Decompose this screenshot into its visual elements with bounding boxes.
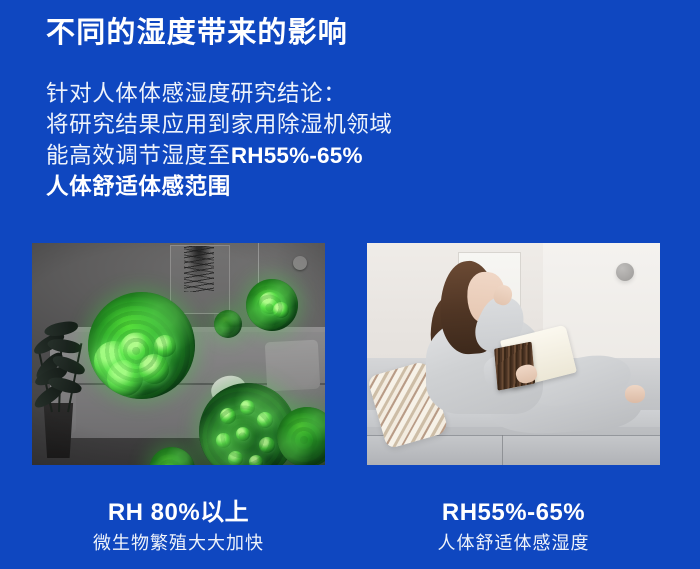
caption-high-humidity: RH 80%以上 微生物繁殖大大加快 — [32, 498, 325, 556]
photo-panel-comfort-humidity — [367, 243, 660, 465]
body-line-4: 人体舒适体感范围 — [46, 171, 393, 202]
caption-main-text: RH55%-65% — [367, 498, 660, 528]
body-line-1: 针对人体体感湿度研究结论： — [46, 78, 393, 109]
caption-sub-text: 微生物繁殖大大加快 — [32, 530, 325, 556]
body-line-2: 将研究结果应用到家用除湿机领域 — [46, 109, 393, 140]
scene-vignette — [367, 243, 660, 465]
body-line-3-highlight: RH55%-65% — [231, 143, 363, 168]
scene-vignette — [32, 243, 325, 465]
page-title: 不同的湿度带来的影响 — [46, 17, 348, 50]
humidity-infographic-poster: 不同的湿度带来的影响 针对人体体感湿度研究结论： 将研究结果应用到家用除湿机领域… — [0, 0, 700, 569]
caption-comfort-humidity: RH55%-65% 人体舒适体感湿度 — [367, 498, 660, 556]
body-line-3-normal: 能高效调节湿度至 — [46, 143, 231, 168]
caption-main-text: RH 80%以上 — [32, 498, 325, 528]
photo-panel-high-humidity — [32, 243, 325, 465]
bright-living-room-scene — [367, 243, 660, 465]
body-line-3: 能高效调节湿度至RH55%-65% — [46, 140, 393, 171]
dim-living-room-scene — [32, 243, 325, 465]
caption-sub-text: 人体舒适体感湿度 — [367, 530, 660, 556]
body-copy: 针对人体体感湿度研究结论： 将研究结果应用到家用除湿机领域 能高效调节湿度至RH… — [46, 78, 393, 202]
